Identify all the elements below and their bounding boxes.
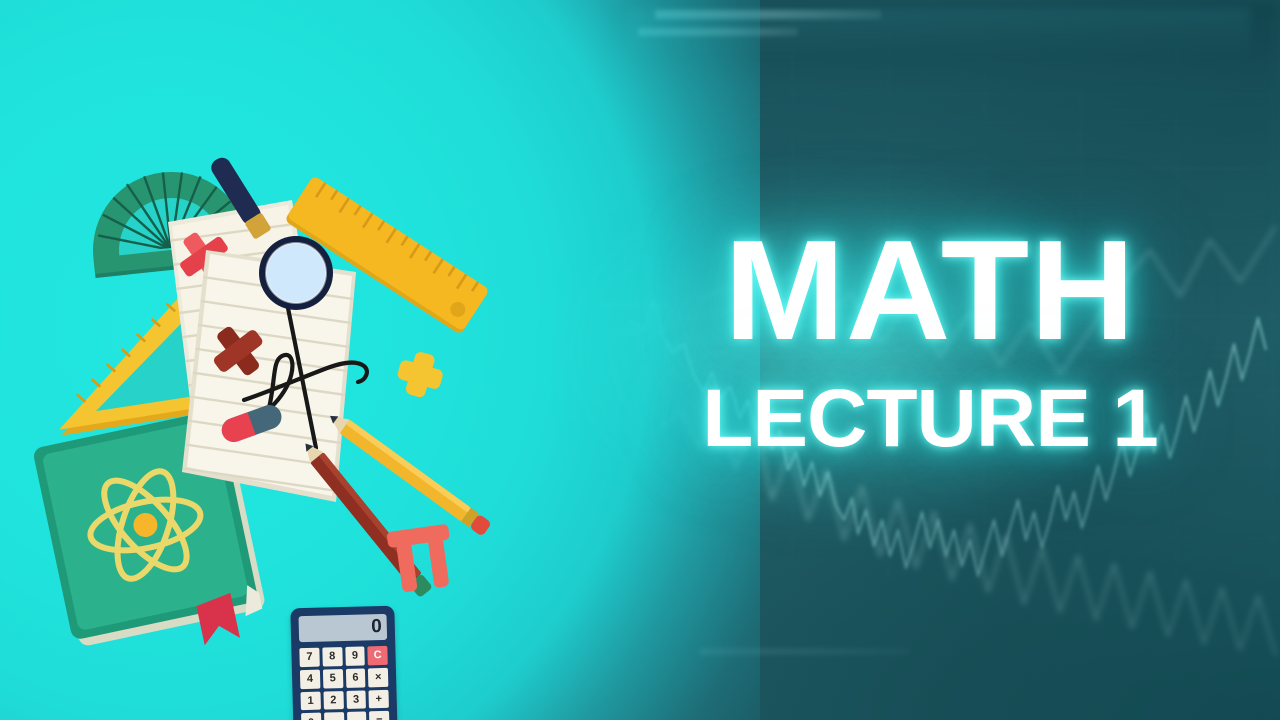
pencil-yellow-icon	[325, 409, 492, 537]
calculator-keypad: 7 8 9 C 4 5 6 × 1 2 3 + 0 . − =	[299, 646, 389, 720]
calculator-key: 1	[300, 691, 320, 710]
calculator-key: +	[369, 689, 389, 708]
calculator-key: −	[347, 712, 367, 720]
calculator-display: 0	[298, 614, 387, 642]
calculator-key: 3	[346, 690, 366, 709]
slide-headline: MATH LECTURE 1	[600, 226, 1260, 456]
page-title: MATH	[593, 226, 1266, 357]
slide-canvas: 0 7 8 9 C 4 5 6 × 1 2 3 + 0 . − = MATH	[0, 0, 1280, 720]
calculator-key: 8	[322, 647, 342, 666]
calculator-icon: 0 7 8 9 C 4 5 6 × 1 2 3 + 0 . − =	[290, 606, 397, 720]
plus-sign-icon	[393, 347, 447, 401]
calculator-key: 4	[300, 669, 320, 688]
calculator-key: 7	[299, 648, 319, 667]
calculator-key: 5	[323, 669, 343, 688]
calculator-key: ×	[368, 668, 388, 687]
calculator-key: .	[324, 712, 344, 720]
calculator-key: 2	[323, 691, 343, 710]
math-supplies-illustration: 0 7 8 9 C 4 5 6 × 1 2 3 + 0 . − =	[30, 130, 550, 650]
calculator-key: 0	[301, 713, 321, 720]
calculator-key: =	[369, 711, 389, 720]
page-subtitle: LECTURE 1	[593, 381, 1266, 456]
calculator-key: 9	[345, 646, 365, 665]
calculator-key: 6	[345, 668, 365, 687]
calculator-key-clear: C	[368, 646, 388, 665]
